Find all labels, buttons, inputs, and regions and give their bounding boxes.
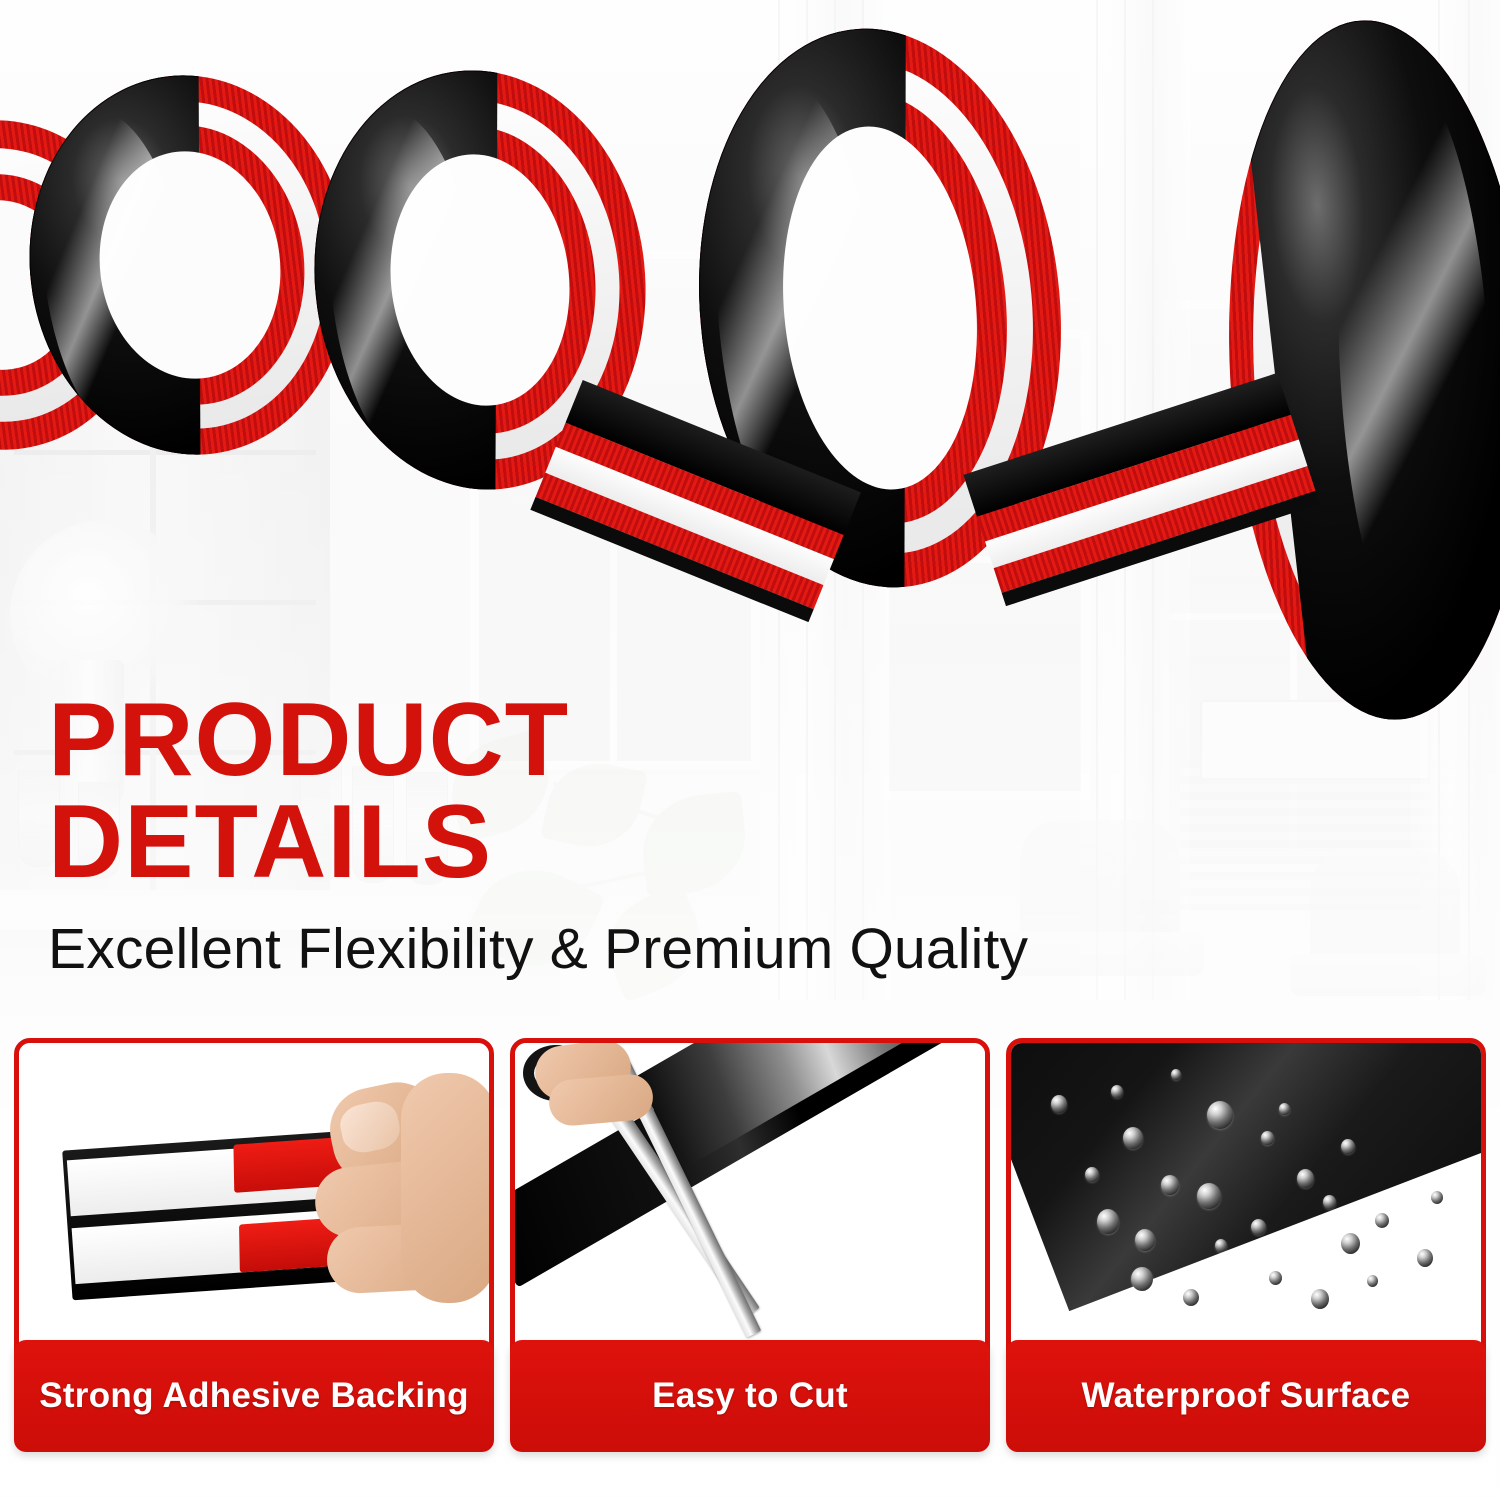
water-droplet-icon <box>1207 1101 1233 1129</box>
feature-caption-text: Waterproof Surface <box>1082 1376 1411 1416</box>
feature-card-adhesive[interactable]: Strong Adhesive Backing <box>14 1038 494 1486</box>
product-detail-image: PRODUCT DETAILS Excellent Flexibility & … <box>0 0 1500 1500</box>
water-droplet-icon <box>1431 1191 1443 1204</box>
water-droplet-icon <box>1323 1195 1336 1209</box>
water-droplet-icon <box>1135 1229 1155 1251</box>
water-droplet-icon <box>1375 1213 1389 1228</box>
feature-caption-cut: Easy to Cut <box>510 1340 990 1452</box>
water-droplet-icon <box>1123 1127 1143 1149</box>
water-droplet-icon <box>1367 1275 1378 1287</box>
water-droplet-icon <box>1297 1169 1314 1188</box>
water-droplet-icon <box>1251 1219 1266 1235</box>
water-droplet-icon <box>1311 1289 1329 1309</box>
tape-surface-icon <box>1011 1043 1481 1311</box>
feature-caption-text: Easy to Cut <box>652 1376 848 1416</box>
water-droplet-icon <box>1279 1103 1290 1115</box>
hero-product-coil <box>0 0 1500 720</box>
water-droplet-icon <box>1171 1069 1181 1080</box>
water-droplet-icon <box>1097 1209 1119 1234</box>
title-line-1: PRODUCT <box>48 690 1248 792</box>
water-droplet-icon <box>1161 1175 1179 1195</box>
feature-photo-cut <box>510 1038 990 1368</box>
feature-photo-waterproof <box>1006 1038 1486 1368</box>
water-droplet-icon <box>1341 1139 1355 1154</box>
headline-block: PRODUCT DETAILS Excellent Flexibility & … <box>48 690 1248 980</box>
feature-caption-waterproof: Waterproof Surface <box>1006 1340 1486 1452</box>
feature-card-waterproof[interactable]: Waterproof Surface <box>1006 1038 1486 1486</box>
feature-card-cut[interactable]: Easy to Cut <box>510 1038 990 1486</box>
title-line-2: DETAILS <box>48 792 1248 894</box>
water-droplet-icon <box>1131 1267 1153 1291</box>
feature-caption-text: Strong Adhesive Backing <box>39 1376 469 1416</box>
water-droplet-icon <box>1341 1233 1360 1254</box>
hand-icon <box>305 1085 494 1315</box>
water-droplet-icon <box>1051 1095 1067 1113</box>
water-droplet-icon <box>1111 1085 1123 1098</box>
tape-loop-5 <box>1212 13 1500 728</box>
feature-panel-row: Strong Adhesive Backing Easy to Cut <box>14 1038 1486 1486</box>
feature-photo-adhesive <box>14 1038 494 1368</box>
water-droplet-icon <box>1215 1239 1227 1252</box>
water-droplet-icon <box>1085 1167 1099 1182</box>
water-droplet-icon <box>1183 1289 1199 1306</box>
water-droplet-icon <box>1261 1131 1274 1145</box>
feature-caption-adhesive: Strong Adhesive Backing <box>14 1340 494 1452</box>
water-droplet-icon <box>1417 1249 1433 1267</box>
page-subtitle: Excellent Flexibility & Premium Quality <box>48 920 1248 980</box>
water-droplet-icon <box>1197 1183 1221 1209</box>
water-droplet-icon <box>1269 1271 1282 1285</box>
page-title: PRODUCT DETAILS <box>48 690 1248 894</box>
